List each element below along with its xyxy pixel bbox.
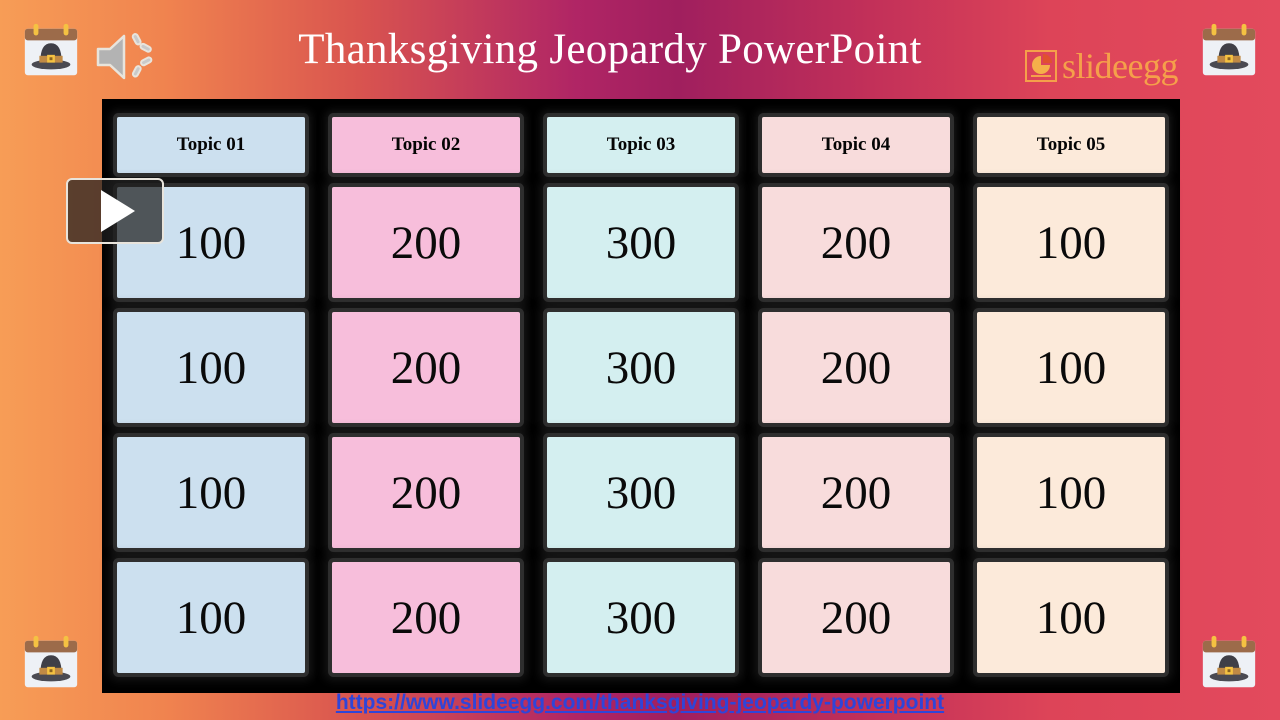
jeopardy-board: Topic 01Topic 02Topic 03Topic 04Topic 05… [102, 99, 1180, 693]
value-tile[interactable]: 300 [547, 437, 735, 548]
page-title: Thanksgiving Jeopardy PowerPoint [200, 22, 1020, 78]
pilgrim-hat-calendar-icon [1198, 631, 1260, 693]
topic-header-5[interactable]: Topic 05 [977, 117, 1165, 173]
pie-chart-icon [1025, 50, 1057, 82]
value-tile[interactable]: 200 [762, 187, 950, 298]
slideegg-logo[interactable]: slideegg [1025, 48, 1178, 84]
value-tile[interactable]: 100 [977, 187, 1165, 298]
value-tile[interactable]: 200 [332, 312, 520, 423]
slide-header: Thanksgiving Jeopardy PowerPoint slideeg… [0, 0, 1280, 99]
value-tile[interactable]: 200 [762, 437, 950, 548]
value-tile[interactable]: 200 [332, 437, 520, 548]
value-tile[interactable]: 300 [547, 562, 735, 673]
pilgrim-hat-calendar-icon [1198, 19, 1260, 81]
source-url-link[interactable]: https://www.slideegg.com/thanksgiving-je… [0, 688, 1280, 718]
value-tile[interactable]: 200 [762, 562, 950, 673]
logo-text: slideegg [1062, 48, 1178, 84]
value-tile[interactable]: 200 [332, 187, 520, 298]
topic-header-4[interactable]: Topic 04 [762, 117, 950, 173]
value-tile[interactable]: 300 [547, 187, 735, 298]
topic-header-3[interactable]: Topic 03 [547, 117, 735, 173]
value-tile[interactable]: 100 [977, 312, 1165, 423]
value-tile[interactable]: 100 [117, 312, 305, 423]
play-button[interactable] [66, 178, 164, 244]
pilgrim-hat-calendar-icon [20, 631, 82, 693]
value-tile[interactable]: 200 [332, 562, 520, 673]
value-tile[interactable]: 100 [117, 437, 305, 548]
pilgrim-hat-calendar-icon [20, 19, 82, 81]
topic-header-2[interactable]: Topic 02 [332, 117, 520, 173]
value-tile[interactable]: 200 [762, 312, 950, 423]
topic-header-1[interactable]: Topic 01 [117, 117, 305, 173]
speaker-audio-icon[interactable] [90, 26, 160, 88]
value-tile[interactable]: 100 [977, 437, 1165, 548]
play-triangle-icon [101, 190, 135, 232]
value-tile[interactable]: 100 [977, 562, 1165, 673]
jeopardy-grid: Topic 01Topic 02Topic 03Topic 04Topic 05… [117, 117, 1165, 673]
value-tile[interactable]: 300 [547, 312, 735, 423]
value-tile[interactable]: 100 [117, 562, 305, 673]
